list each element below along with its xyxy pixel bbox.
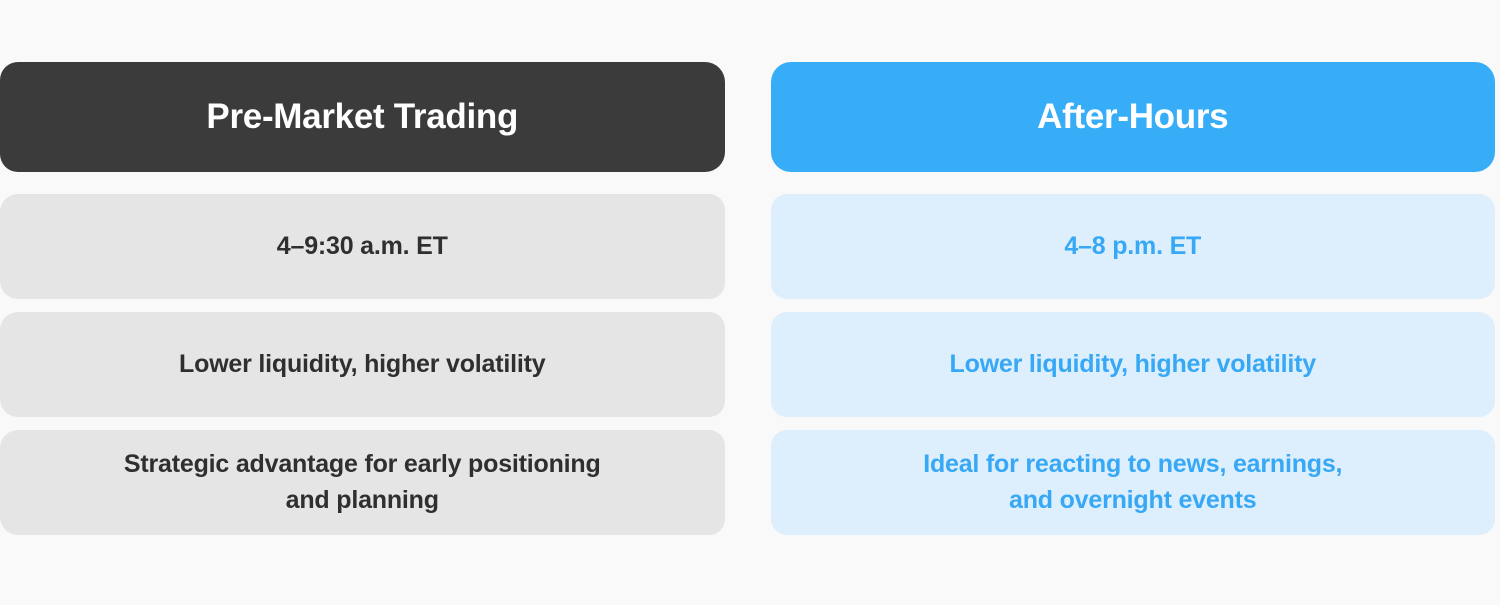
cell-text-pre-market-advantage: Strategic advantage for early positionin… [124, 447, 601, 518]
cell-pre-market-liquidity: Lower liquidity, higher volatility [0, 312, 725, 417]
cell-text-after-hours-liquidity: Lower liquidity, higher volatility [950, 347, 1316, 383]
column-pre-market: Pre-Market Trading 4–9:30 a.m. ET Lower … [0, 62, 725, 535]
column-header-title-after-hours: After-Hours [1037, 98, 1228, 137]
cell-after-hours-liquidity: Lower liquidity, higher volatility [771, 312, 1496, 417]
cell-text-pre-market-hours: 4–9:30 a.m. ET [277, 229, 448, 265]
cell-text-pre-market-liquidity: Lower liquidity, higher volatility [179, 347, 545, 383]
cell-pre-market-hours: 4–9:30 a.m. ET [0, 194, 725, 299]
cell-after-hours-hours: 4–8 p.m. ET [771, 194, 1496, 299]
column-header-title-pre-market: Pre-Market Trading [206, 98, 518, 137]
cell-pre-market-advantage: Strategic advantage for early positionin… [0, 430, 725, 535]
cell-text-after-hours-hours: 4–8 p.m. ET [1064, 229, 1201, 265]
cell-text-after-hours-advantage: Ideal for reacting to news, earnings, an… [923, 447, 1342, 518]
comparison-board: Pre-Market Trading 4–9:30 a.m. ET Lower … [0, 0, 1500, 605]
column-header-pre-market: Pre-Market Trading [0, 62, 725, 172]
cell-after-hours-advantage: Ideal for reacting to news, earnings, an… [771, 430, 1496, 535]
column-header-after-hours: After-Hours [771, 62, 1496, 172]
column-after-hours: After-Hours 4–8 p.m. ET Lower liquidity,… [771, 62, 1496, 535]
